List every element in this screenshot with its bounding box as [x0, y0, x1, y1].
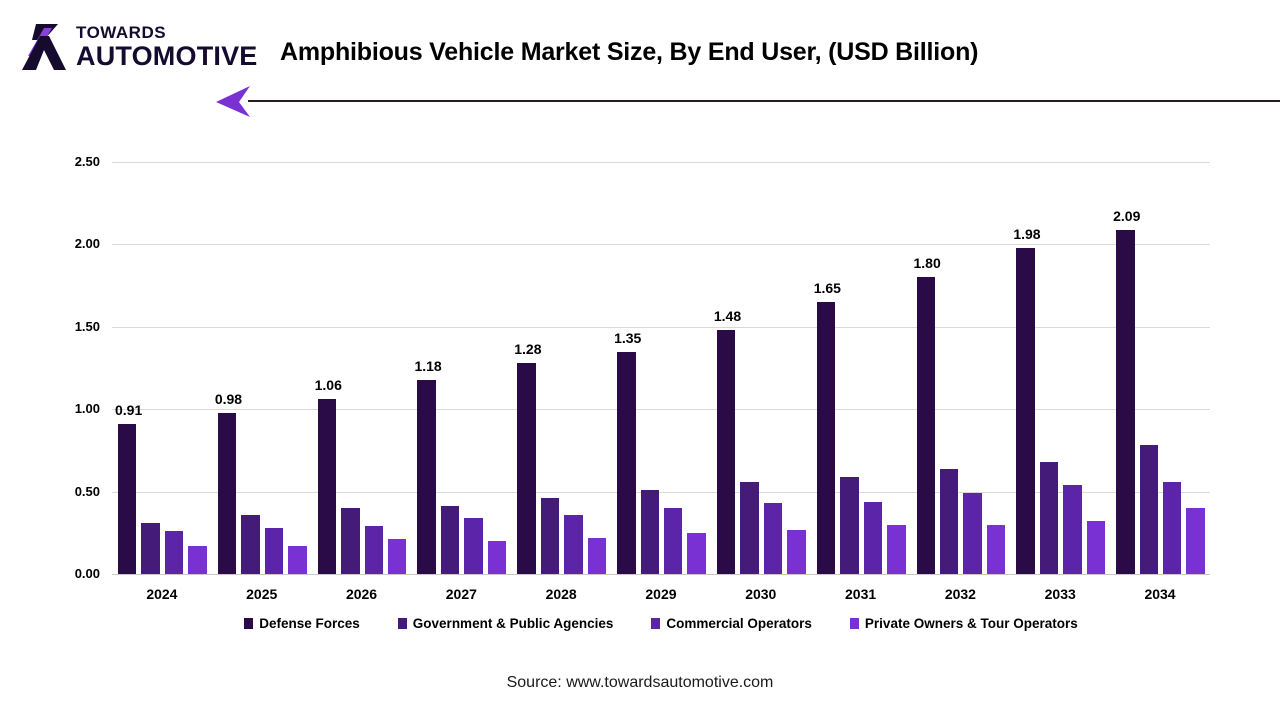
bar-government-public-agencies[interactable] — [840, 477, 858, 574]
bar-value-label: 1.35 — [614, 330, 641, 346]
bar-private-owners-tour-operators[interactable] — [987, 525, 1005, 574]
bar-government-public-agencies[interactable] — [141, 523, 159, 574]
x-axis-tick-label: 2025 — [212, 586, 312, 602]
bar-commercial-operators[interactable] — [365, 526, 383, 574]
bar-government-public-agencies[interactable] — [241, 515, 259, 574]
bar-commercial-operators[interactable] — [1063, 485, 1081, 574]
legend-swatch-icon — [244, 618, 253, 629]
bar-stack — [1010, 162, 1110, 574]
legend-item[interactable]: Defense Forces — [244, 616, 360, 631]
bar-defense-forces[interactable] — [817, 302, 835, 574]
bar-defense-forces[interactable] — [1116, 230, 1134, 574]
bar-defense-forces[interactable] — [917, 277, 935, 574]
bar-value-label: 1.48 — [714, 308, 741, 324]
bar-group: 1.28 — [511, 162, 611, 574]
bar-defense-forces[interactable] — [318, 399, 336, 574]
bar-stack — [112, 162, 212, 574]
chart-legend: Defense ForcesGovernment & Public Agenci… — [112, 616, 1210, 631]
bar-group: 1.48 — [711, 162, 811, 574]
bar-value-label: 1.06 — [315, 377, 342, 393]
bar-value-label: 1.98 — [1013, 226, 1040, 242]
bar-stack — [911, 162, 1011, 574]
y-axis-tick-label: 2.00 — [30, 236, 100, 251]
bar-group: 2.09 — [1110, 162, 1210, 574]
x-axis-tick-label: 2026 — [312, 586, 412, 602]
bar-group: 0.98 — [212, 162, 312, 574]
plot-area: 0.000.501.001.502.002.50 0.910.981.061.1… — [112, 162, 1210, 574]
legend-label: Commercial Operators — [666, 616, 812, 631]
bar-group: 1.18 — [411, 162, 511, 574]
x-axis-tick-label: 2029 — [611, 586, 711, 602]
legend-swatch-icon — [398, 618, 407, 629]
bar-stack — [711, 162, 811, 574]
bar-private-owners-tour-operators[interactable] — [887, 525, 905, 574]
bar-government-public-agencies[interactable] — [740, 482, 758, 574]
bar-group: 1.98 — [1010, 162, 1110, 574]
bar-private-owners-tour-operators[interactable] — [1186, 508, 1204, 574]
bar-commercial-operators[interactable] — [564, 515, 582, 574]
brand-logo: TOWARDS AUTOMOTIVE — [18, 22, 233, 74]
bar-value-label: 1.80 — [914, 255, 941, 271]
x-axis-tick-label: 2034 — [1110, 586, 1210, 602]
chart-page: TOWARDS AUTOMOTIVE Amphibious Vehicle Ma… — [0, 0, 1280, 720]
bar-value-label: 0.98 — [215, 391, 242, 407]
bar-stack — [511, 162, 611, 574]
bar-defense-forces[interactable] — [218, 413, 236, 575]
page-title: Amphibious Vehicle Market Size, By End U… — [280, 38, 978, 67]
bar-government-public-agencies[interactable] — [641, 490, 659, 574]
y-axis-tick-label: 1.00 — [30, 401, 100, 416]
legend-label: Government & Public Agencies — [413, 616, 614, 631]
x-axis-tick-label: 2024 — [112, 586, 212, 602]
bar-government-public-agencies[interactable] — [341, 508, 359, 574]
y-axis-tick-label: 2.50 — [30, 154, 100, 169]
x-axis-tick-label: 2033 — [1010, 586, 1110, 602]
bar-defense-forces[interactable] — [617, 352, 635, 574]
bar-defense-forces[interactable] — [417, 380, 435, 574]
bar-private-owners-tour-operators[interactable] — [488, 541, 506, 574]
x-axis-tick-label: 2032 — [911, 586, 1011, 602]
left-arrow-icon — [214, 84, 254, 118]
bar-private-owners-tour-operators[interactable] — [588, 538, 606, 574]
legend-item[interactable]: Private Owners & Tour Operators — [850, 616, 1078, 631]
x-axis-labels: 2024202520262027202820292030203120322033… — [112, 586, 1210, 602]
bar-private-owners-tour-operators[interactable] — [787, 530, 805, 574]
x-axis-tick-label: 2028 — [511, 586, 611, 602]
legend-swatch-icon — [651, 618, 660, 629]
bar-defense-forces[interactable] — [717, 330, 735, 574]
bar-government-public-agencies[interactable] — [1040, 462, 1058, 574]
legend-item[interactable]: Commercial Operators — [651, 616, 812, 631]
logo-wordmark: TOWARDS AUTOMOTIVE — [76, 22, 258, 70]
x-axis-tick-label: 2027 — [411, 586, 511, 602]
bar-group: 0.91 — [112, 162, 212, 574]
bar-defense-forces[interactable] — [1016, 248, 1034, 574]
bar-commercial-operators[interactable] — [464, 518, 482, 574]
x-axis-baseline — [112, 574, 1210, 575]
bar-value-label: 2.09 — [1113, 208, 1140, 224]
bar-private-owners-tour-operators[interactable] — [388, 539, 406, 574]
header-rule — [248, 100, 1280, 102]
y-axis-tick-label: 0.00 — [30, 566, 100, 581]
bar-defense-forces[interactable] — [118, 424, 136, 574]
bar-private-owners-tour-operators[interactable] — [1087, 521, 1105, 574]
bar-stack — [811, 162, 911, 574]
bar-government-public-agencies[interactable] — [441, 506, 459, 574]
bar-private-owners-tour-operators[interactable] — [687, 533, 705, 574]
legend-item[interactable]: Government & Public Agencies — [398, 616, 614, 631]
bar-commercial-operators[interactable] — [963, 493, 981, 574]
legend-label: Private Owners & Tour Operators — [865, 616, 1078, 631]
y-axis-tick-label: 1.50 — [30, 319, 100, 334]
bar-commercial-operators[interactable] — [764, 503, 782, 574]
bar-groups: 0.910.981.061.181.281.351.481.651.801.98… — [112, 162, 1210, 574]
bar-commercial-operators[interactable] — [864, 502, 882, 575]
legend-label: Defense Forces — [259, 616, 360, 631]
bar-commercial-operators[interactable] — [265, 528, 283, 574]
bar-stack — [212, 162, 312, 574]
bar-value-label: 1.18 — [414, 358, 441, 374]
y-axis-tick-label: 0.50 — [30, 484, 100, 499]
bar-commercial-operators[interactable] — [664, 508, 682, 574]
x-axis-tick-label: 2030 — [711, 586, 811, 602]
legend-swatch-icon — [850, 618, 859, 629]
logo-text-top: TOWARDS — [76, 24, 258, 42]
logo-text-bottom: AUTOMOTIVE — [76, 43, 258, 70]
bar-commercial-operators[interactable] — [1163, 482, 1181, 574]
bar-commercial-operators[interactable] — [165, 531, 183, 574]
bar-value-label: 1.28 — [514, 341, 541, 357]
bar-stack — [611, 162, 711, 574]
bar-government-public-agencies[interactable] — [940, 469, 958, 574]
bar-value-label: 0.91 — [115, 402, 142, 418]
bar-group: 1.35 — [611, 162, 711, 574]
bar-government-public-agencies[interactable] — [541, 498, 559, 574]
bar-private-owners-tour-operators[interactable] — [288, 546, 306, 574]
bar-group: 1.65 — [811, 162, 911, 574]
source-caption: Source: www.towardsautomotive.com — [0, 674, 1280, 692]
bar-value-label: 1.65 — [814, 280, 841, 296]
bar-group: 1.06 — [312, 162, 412, 574]
bar-stack — [312, 162, 412, 574]
bar-government-public-agencies[interactable] — [1140, 445, 1158, 574]
bar-group: 1.80 — [911, 162, 1011, 574]
bar-stack — [1110, 162, 1210, 574]
bar-defense-forces[interactable] — [517, 363, 535, 574]
bar-private-owners-tour-operators[interactable] — [188, 546, 206, 574]
logo-mark-icon — [18, 22, 74, 72]
x-axis-tick-label: 2031 — [811, 586, 911, 602]
